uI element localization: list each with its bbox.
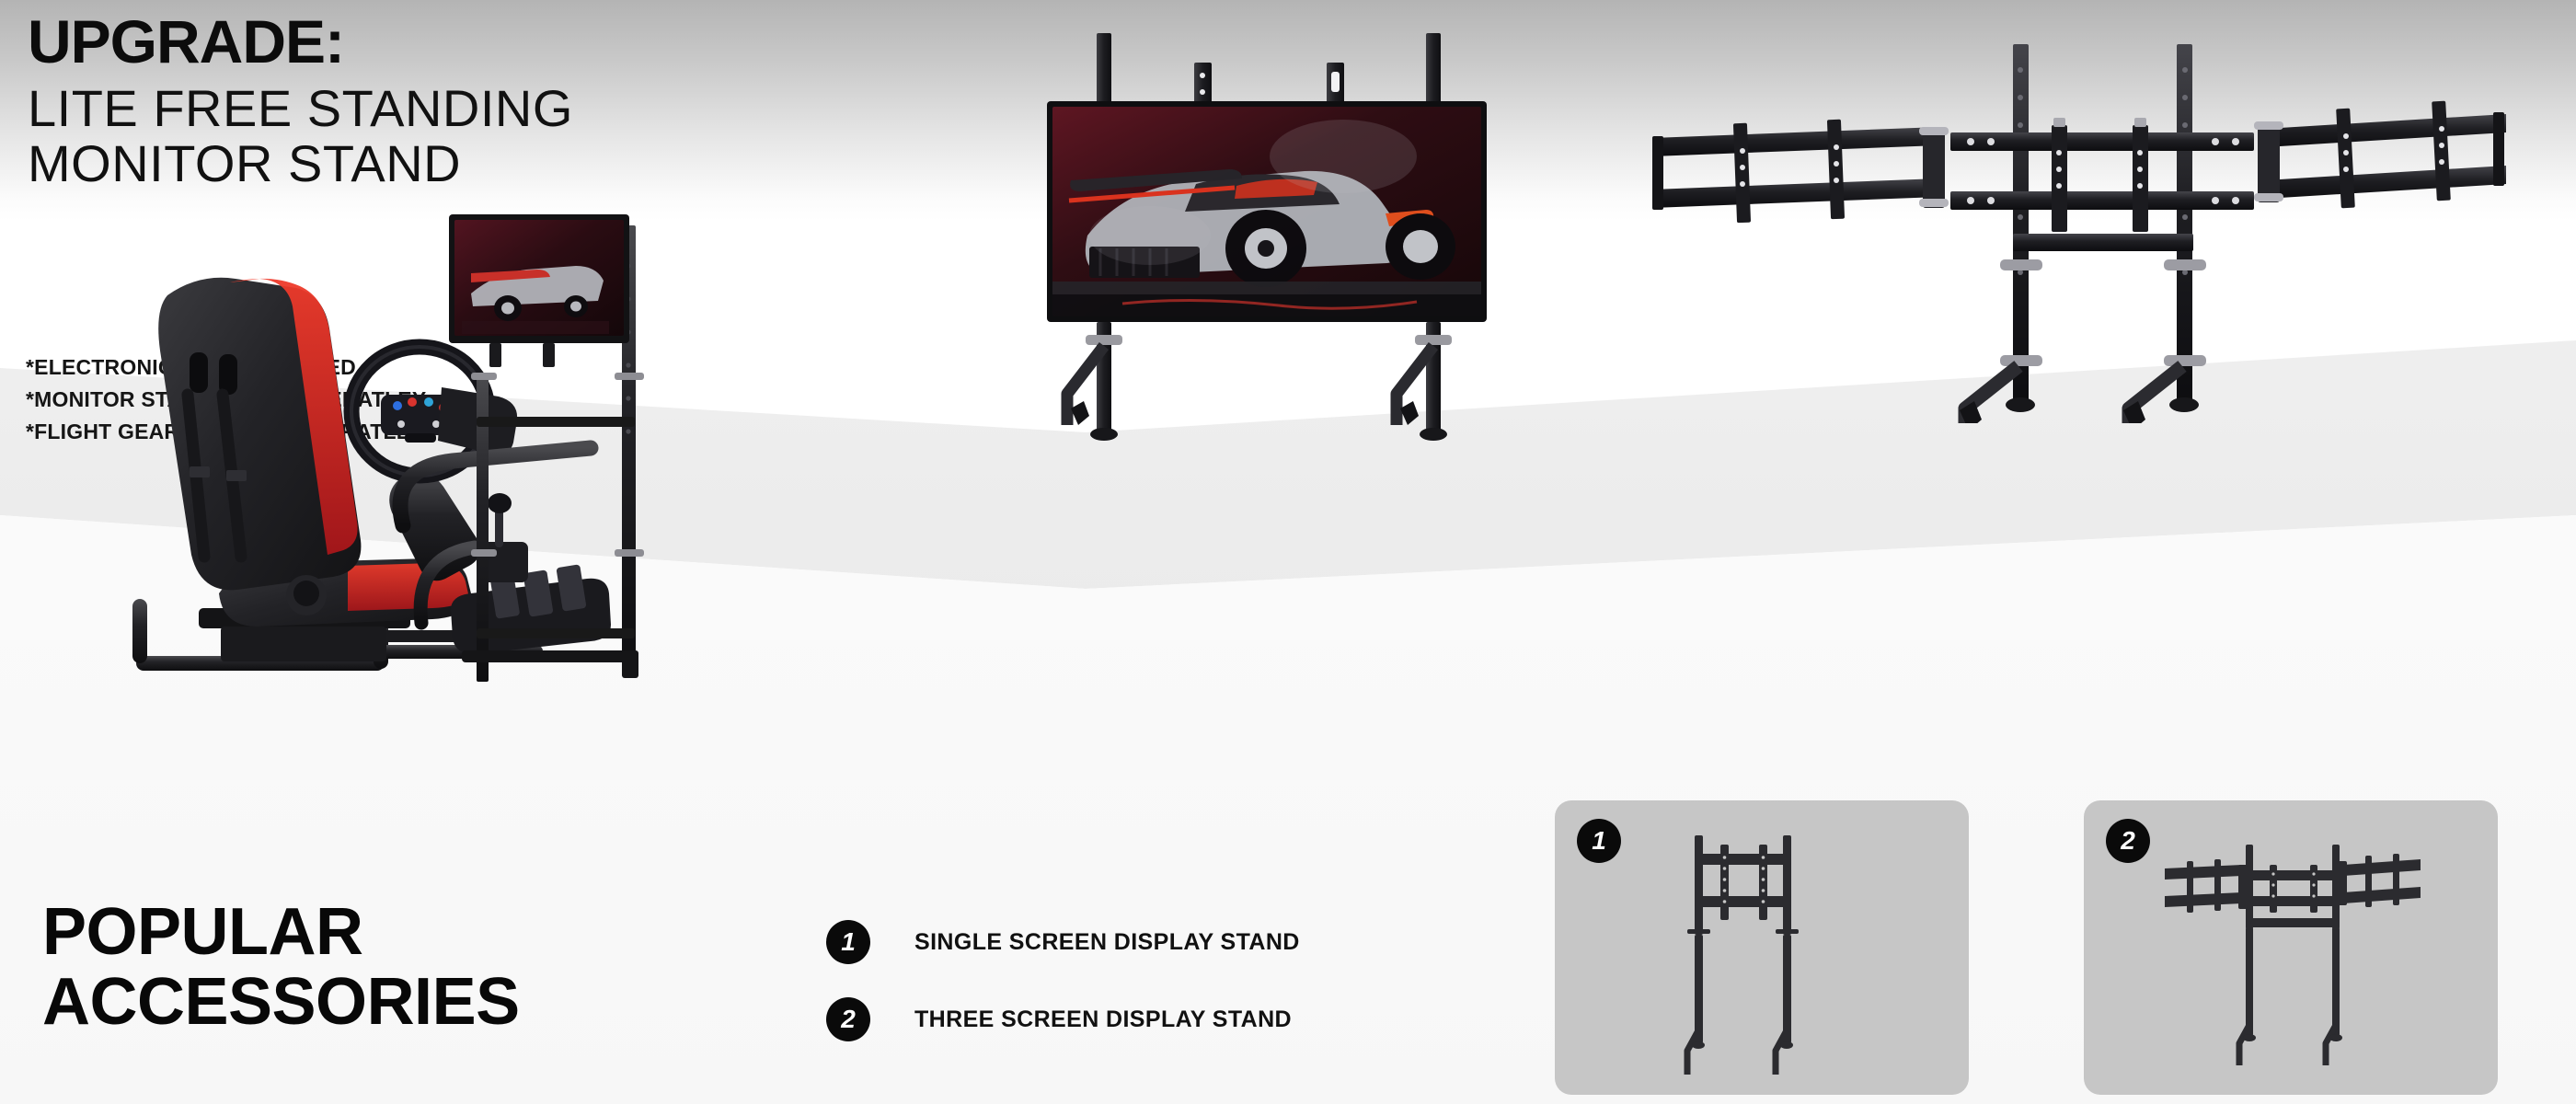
legend-item: 2 THREE SCREEN DISPLAY STAND [826, 997, 1300, 1041]
legend-badge-1: 1 [826, 920, 870, 964]
legend-badge-2: 2 [826, 997, 870, 1041]
thumbnail-card-2[interactable]: 2 [2084, 800, 2498, 1095]
legend-item: 1 SINGLE SCREEN DISPLAY STAND [826, 920, 1300, 964]
thumbnail-card-1[interactable]: 1 [1555, 800, 1969, 1095]
legend: 1 SINGLE SCREEN DISPLAY STAND 2 THREE SC… [826, 920, 1300, 1075]
product-image-triple-stand [1647, 37, 2512, 423]
card-badge-2: 2 [2106, 819, 2150, 863]
card-badge-1: 1 [1577, 819, 1621, 863]
page-subtitle: LITE FREE STANDING MONITOR STAND [28, 81, 573, 192]
poster-canvas: UPGRADE: LITE FREE STANDING MONITOR STAN… [0, 0, 2576, 1104]
legend-label-2: THREE SCREEN DISPLAY STAND [914, 1006, 1292, 1033]
page-title: UPGRADE: [28, 11, 344, 73]
legend-label-1: SINGLE SCREEN DISPLAY STAND [914, 929, 1300, 956]
product-image-single-stand [1040, 18, 1592, 451]
accessories-heading: POPULAR ACCESSORIES [42, 897, 520, 1038]
product-image-cockpit [110, 198, 681, 713]
